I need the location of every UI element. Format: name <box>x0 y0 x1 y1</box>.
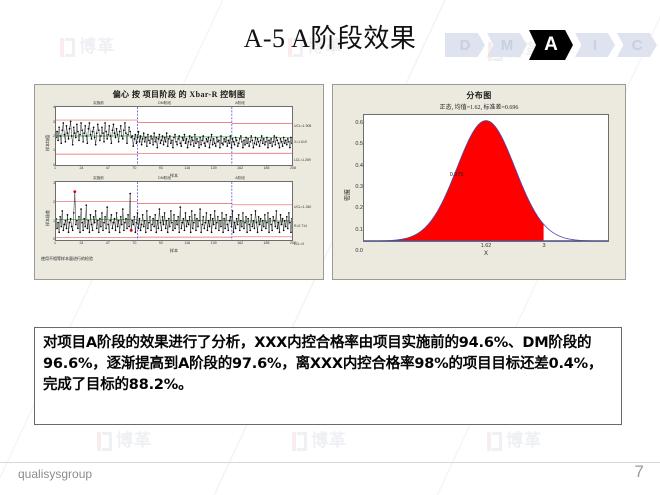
x-tick: 47 <box>106 241 110 245</box>
r-x-label: 样本 <box>55 248 293 254</box>
x-tick: 116 <box>184 241 190 245</box>
y-tick: 0.1 <box>355 227 363 233</box>
x-tick: 1 <box>54 166 56 170</box>
r-x-ticks: 124477093116139162185208 <box>55 241 293 247</box>
page-title: A-5 A阶段效果 <box>0 18 660 55</box>
summary-text-box: 对项目A阶段的效果进行了分析，XXX内控合格率由项目实施前的94.6%、DM阶段… <box>34 327 622 425</box>
x-tick: 1.62 <box>481 243 492 249</box>
x-tick: 24 <box>79 241 83 245</box>
watermark-text: 博革 <box>311 432 347 451</box>
r-subplot: 3 2 1 0 样本极差 实施前 DM阶段 A阶段 UCL=1.340 R=0.… <box>39 181 319 254</box>
distribution-plot-area: 0.976 <box>363 114 609 242</box>
phase-label-1: 实施前 <box>92 101 105 106</box>
x-tick: 1 <box>54 241 56 245</box>
y-tick: 0.6 <box>355 120 363 126</box>
xbar-limit-labels: UCL=1.908 X=1.619 LCL=1.269 <box>293 112 319 172</box>
phase-label-3: A阶段 <box>234 101 246 106</box>
y-tick: 0.4 <box>355 163 363 169</box>
xbar-subplot: 4 3 2 1 0 样本均值 实施前 DM阶段 A阶段 UCL=1.908 X=… <box>39 106 319 179</box>
brand-logo-icon <box>292 432 307 451</box>
y-tick: 0.5 <box>355 141 363 147</box>
x-tick: 162 <box>237 166 243 170</box>
distribution-y-ticks: 0.60.50.40.30.20.10.0 <box>349 123 363 251</box>
distribution-x-label: X <box>347 251 625 257</box>
r-y-label: 样本极差 <box>45 210 51 226</box>
distribution-x-ticks: 1.623 <box>363 243 609 251</box>
x-tick: 185 <box>264 241 270 245</box>
shaded-area-annotation: 0.976 <box>450 172 464 178</box>
xbar-x-ticks: 124477093116139162185208 <box>55 166 293 172</box>
footer-divider <box>0 462 660 463</box>
x-tick: 47 <box>106 166 110 170</box>
r-limit-labels: UCL=1.340 R=0.714 LCL=0 <box>293 187 319 247</box>
xbar-y-label: 样本均值 <box>45 135 51 151</box>
x-tick: 93 <box>159 166 163 170</box>
control-chart-svg <box>56 182 292 240</box>
x-tick: 162 <box>237 241 243 245</box>
x-tick: 185 <box>264 166 270 170</box>
chart-title: 偏心 按 项目阶段 的 Xbar-R 控制图 <box>35 89 323 100</box>
xbar-x-label: 样本 <box>55 173 293 179</box>
x-tick: 70 <box>132 166 136 170</box>
brand-logo-icon <box>487 432 502 451</box>
x-tick: 93 <box>159 241 163 245</box>
r-plot-area: 实施前 DM阶段 A阶段 <box>55 181 293 241</box>
x-tick: 116 <box>184 166 190 170</box>
distribution-plot-panel[interactable]: 分布图 正态, 均值=1.62, 标准差=0.696 密度 0.60.50.40… <box>332 84 626 280</box>
watermark-text: 博革 <box>506 432 542 451</box>
distribution-title: 分布图 <box>333 90 625 101</box>
y-tick: 0.2 <box>355 205 363 211</box>
watermark: 博革 <box>487 432 542 451</box>
x-tick: 139 <box>211 241 217 245</box>
distribution-subtitle: 正态, 均值=1.62, 标准差=0.696 <box>333 102 625 111</box>
distribution-svg <box>364 115 608 241</box>
x-tick: 24 <box>79 166 83 170</box>
watermark: 博革 <box>292 432 347 451</box>
chart-footnote: 使用不相等样本量进行的检验 <box>41 256 323 262</box>
y-tick: 0.3 <box>355 184 363 190</box>
brand-logo-icon <box>97 432 112 451</box>
phase-label-2: DM阶段 <box>157 176 172 181</box>
xbar-r-control-chart-panel[interactable]: 偏心 按 项目阶段 的 Xbar-R 控制图 4 3 2 1 0 样本均值 实施… <box>34 84 324 280</box>
x-tick: 208 <box>290 166 296 170</box>
footer-brand: qualisysgroup <box>18 467 92 481</box>
x-tick: 139 <box>211 166 217 170</box>
phase-label-1: 实施前 <box>92 176 105 181</box>
phase-label-3: A阶段 <box>234 176 246 181</box>
x-tick: 3 <box>543 243 546 249</box>
xbar-plot-area: 实施前 DM阶段 A阶段 <box>55 106 293 166</box>
summary-paragraph: 对项目A阶段的效果进行了分析，XXX内控合格率由项目实施前的94.6%、DM阶段… <box>43 333 613 396</box>
y-tick: 0.0 <box>355 248 363 254</box>
watermark: 博革 <box>97 432 152 451</box>
x-tick: 70 <box>132 241 136 245</box>
page-number: 7 <box>635 462 644 482</box>
x-tick: 208 <box>290 241 296 245</box>
control-chart-svg <box>56 107 292 165</box>
watermark-text: 博革 <box>116 432 152 451</box>
phase-label-2: DM阶段 <box>157 101 172 106</box>
